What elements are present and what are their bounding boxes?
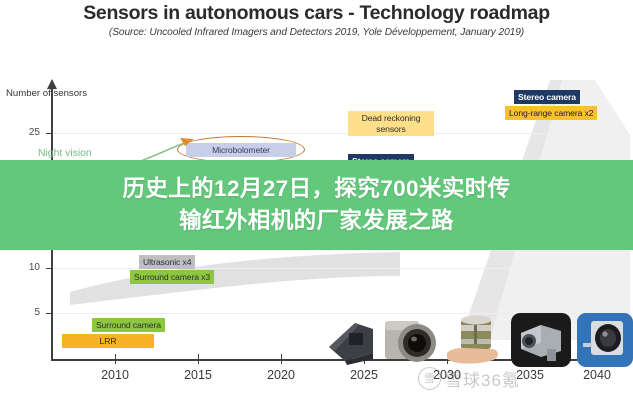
x-tick-mark-2015 [198,354,199,364]
y-tick-label-25: 25 [12,127,40,138]
chart-source: (Source: Uncooled Infrared Imagers and D… [0,27,633,38]
y-tick-label-5: 5 [12,307,40,318]
chip-dead-reckoning-line1: Dead reckoning [362,113,421,123]
chip-surround-camera-low: Surround camera [92,318,165,332]
chip-ultrasonic-x4: Ultrasonic x4 [139,255,195,269]
x-tick-mark-2010 [115,354,116,364]
x-tick-mark-2020 [281,354,282,364]
y-axis-arrow [47,79,57,89]
chart-title: Sensors in autonomous cars - Technology … [0,2,633,24]
screenshot-root: Sensors in autonomous cars - Technology … [0,0,633,400]
x-tick-label-2020: 2020 [251,368,311,382]
thermal-camera-module-photo [511,313,571,367]
chip-microbolometer: Microbolometer [186,143,296,157]
chip-long-range-camera-x2-top: Long-range camera x2 [505,106,597,120]
chip-stereo-camera-top: Stereo camera [514,90,580,104]
lidar-puck-in-hand-photo [443,313,505,369]
y-tick-mark-5 [46,313,52,314]
product-photo-strip [325,313,625,373]
y-axis-title: Number of sensors [6,88,87,99]
y-tick-mark-25 [46,133,52,134]
x-tick-label-2015: 2015 [168,368,228,382]
title-block: Sensors in autonomous cars - Technology … [0,2,633,38]
headline-line-1: 历史上的12月27日，探究700米实时传 [47,173,587,205]
headline-line-2: 输红外相机的厂家发展之路 [47,205,587,237]
chip-lrr-low: LRR [62,334,154,348]
radar-module-photo [325,313,377,365]
gridline-25 [53,133,621,134]
headline-overlay-banner: 历史上的12月27日，探究700米实时传 输红外相机的厂家发展之路 [0,160,633,250]
chip-surround-camera-x3: Surround camera x3 [130,270,214,284]
chip-dead-reckoning-sensors: Dead reckoning sensors [348,111,434,136]
chip-dead-reckoning-line2: sensors [376,124,405,134]
camera-lens-photo [383,313,439,367]
y-tick-label-10: 10 [12,262,40,273]
night-vision-callout-line1: Night vision [38,147,92,160]
headline-overlay-text: 历史上的12月27日，探究700米实时传 输红外相机的厂家发展之路 [47,173,587,237]
y-tick-mark-10 [46,268,52,269]
infrared-camera-blue-photo [577,313,633,367]
background-wedge-lower [70,250,400,310]
x-tick-label-2010: 2010 [85,368,145,382]
